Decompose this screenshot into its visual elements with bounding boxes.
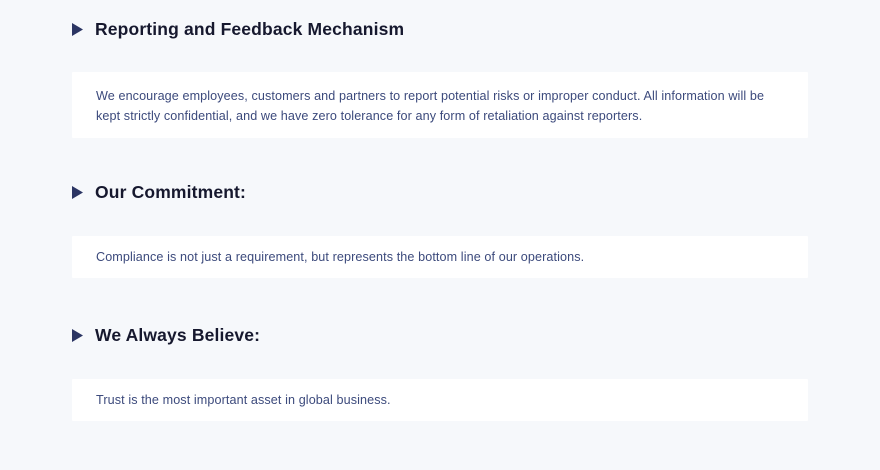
section-heading-row: Reporting and Feedback Mechanism — [0, 16, 880, 42]
triangle-right-icon — [72, 23, 83, 36]
section-reporting-and-feedback: Reporting and Feedback Mechanism — [0, 16, 880, 42]
section-heading-title: We Always Believe: — [95, 322, 260, 348]
section-heading-title: Our Commitment: — [95, 179, 246, 205]
section-body-card: Compliance is not just a requirement, bu… — [72, 236, 808, 278]
section-body-card: Trust is the most important asset in glo… — [72, 379, 808, 421]
section-we-always-believe: We Always Believe: — [0, 322, 880, 348]
triangle-right-icon — [72, 186, 83, 199]
section-heading-row: Our Commitment: — [0, 179, 880, 205]
section-body-card: We encourage employees, customers and pa… — [72, 72, 808, 138]
section-body-text: Compliance is not just a requirement, bu… — [96, 247, 784, 267]
document-page: Reporting and Feedback Mechanism We enco… — [0, 0, 880, 470]
section-body-text: Trust is the most important asset in glo… — [96, 390, 784, 410]
section-our-commitment: Our Commitment: — [0, 179, 880, 205]
section-body-text: We encourage employees, customers and pa… — [96, 86, 784, 126]
triangle-right-icon — [72, 329, 83, 342]
section-heading-title: Reporting and Feedback Mechanism — [95, 16, 404, 42]
section-heading-row: We Always Believe: — [0, 322, 880, 348]
